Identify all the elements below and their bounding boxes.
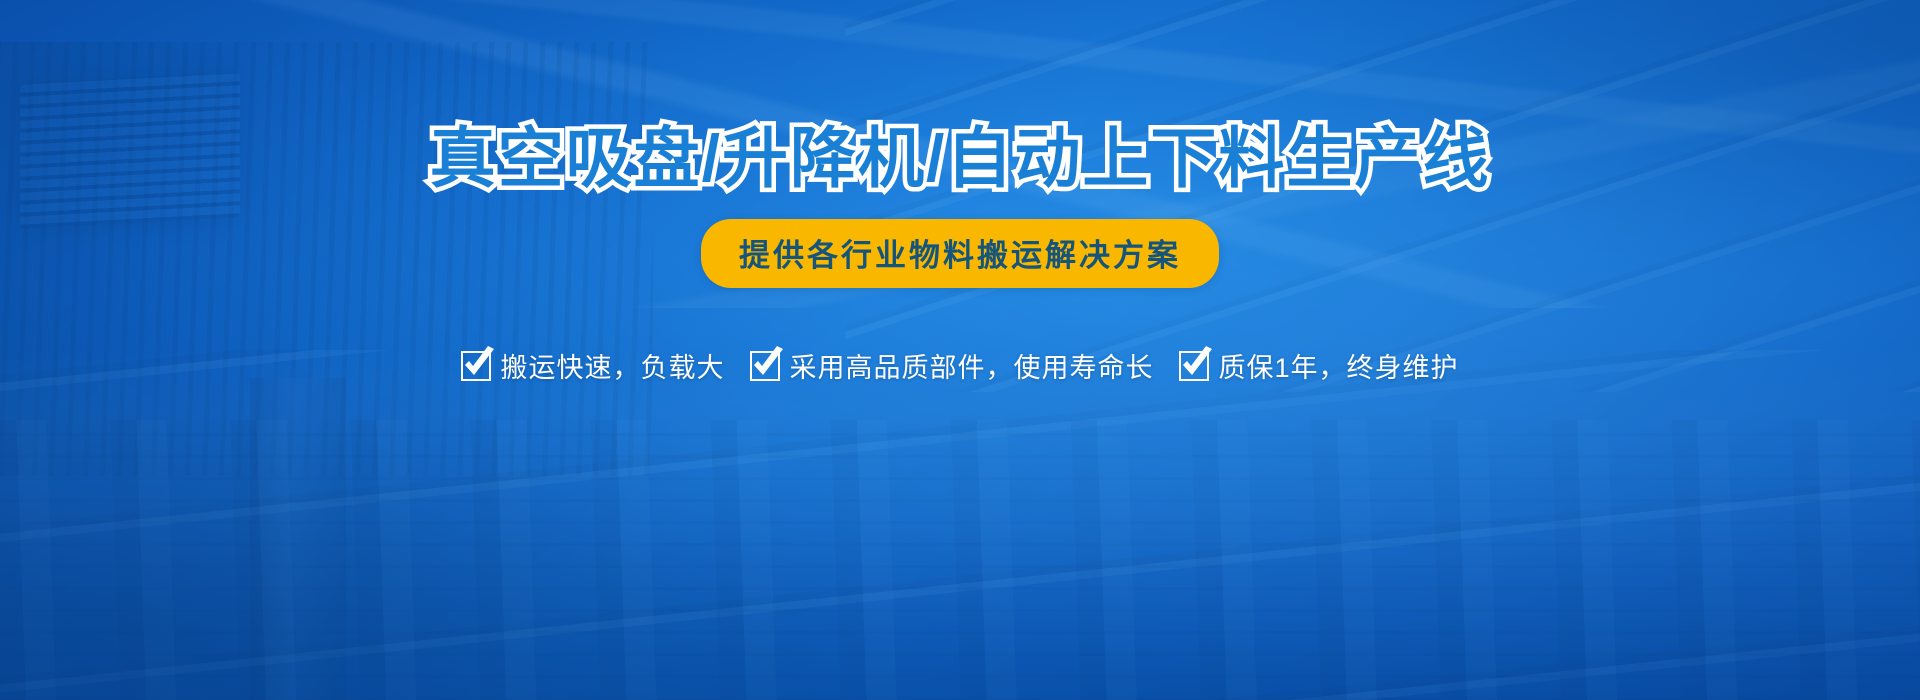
feature-label: 搬运快速，负载大 (500, 346, 724, 385)
feature-item: 质保1年，终身维护 (1179, 346, 1458, 385)
check-icon (461, 351, 491, 381)
check-icon (750, 351, 780, 381)
check-icon (1179, 351, 1209, 381)
hero-banner: 真空吸盘/升降机/自动上下料生产线 提供各行业物料搬运解决方案 搬运快速，负载大… (0, 0, 1920, 700)
feature-label: 质保1年，终身维护 (1218, 346, 1458, 385)
banner-content: 真空吸盘/升降机/自动上下料生产线 提供各行业物料搬运解决方案 搬运快速，负载大… (0, 0, 1920, 700)
feature-item: 采用高品质部件，使用寿命长 (750, 346, 1153, 385)
banner-subtitle-pill: 提供各行业物料搬运解决方案 (701, 219, 1219, 288)
feature-list: 搬运快速，负载大 采用高品质部件，使用寿命长 质保1年，终身维护 (461, 346, 1458, 385)
feature-label: 采用高品质部件，使用寿命长 (789, 346, 1153, 385)
feature-item: 搬运快速，负载大 (461, 346, 724, 385)
banner-title: 真空吸盘/升降机/自动上下料生产线 (430, 124, 1491, 193)
